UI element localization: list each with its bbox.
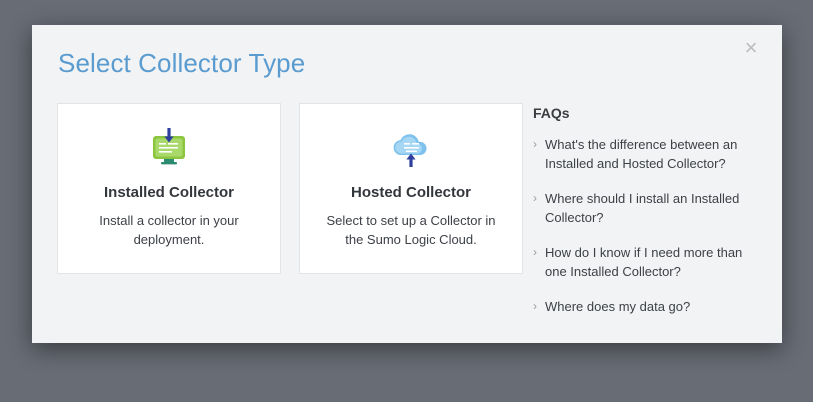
faq-heading: FAQs (533, 105, 758, 121)
faq-item[interactable]: › What's the difference between an Insta… (533, 135, 758, 173)
chevron-right-icon: › (533, 189, 537, 227)
faq-item-label: Where should I install an Installed Coll… (545, 189, 758, 227)
chevron-right-icon: › (533, 297, 537, 316)
dialog-title: Select Collector Type (58, 48, 305, 79)
collector-type-card-list: Installed Collector Install a collector … (57, 103, 523, 274)
installed-collector-monitor-icon (146, 126, 192, 172)
card-description: Install a collector in your deployment. (80, 211, 258, 249)
hosted-collector-cloud-icon (388, 126, 434, 172)
select-collector-type-dialog: Select Collector Type × Installed (32, 25, 782, 343)
card-title: Installed Collector (104, 184, 234, 201)
faq-item-label: Where does my data go? (545, 297, 690, 316)
chevron-right-icon: › (533, 243, 537, 281)
card-description: Select to set up a Collector in the Sumo… (322, 211, 500, 249)
card-title: Hosted Collector (351, 184, 471, 201)
faq-item[interactable]: › Where does my data go? (533, 297, 758, 316)
card-installed-collector[interactable]: Installed Collector Install a collector … (57, 103, 281, 274)
faq-item[interactable]: › Where should I install an Installed Co… (533, 189, 758, 227)
chevron-right-icon: › (533, 135, 537, 173)
faq-item-label: How do I know if I need more than one In… (545, 243, 758, 281)
card-hosted-collector[interactable]: Hosted Collector Select to set up a Coll… (299, 103, 523, 274)
modal-overlay-lower (0, 380, 813, 402)
faq-item-label: What's the difference between an Install… (545, 135, 758, 173)
faq-panel: FAQs › What's the difference between an … (533, 105, 758, 332)
close-icon[interactable]: × (738, 35, 764, 61)
faq-item[interactable]: › How do I know if I need more than one … (533, 243, 758, 281)
